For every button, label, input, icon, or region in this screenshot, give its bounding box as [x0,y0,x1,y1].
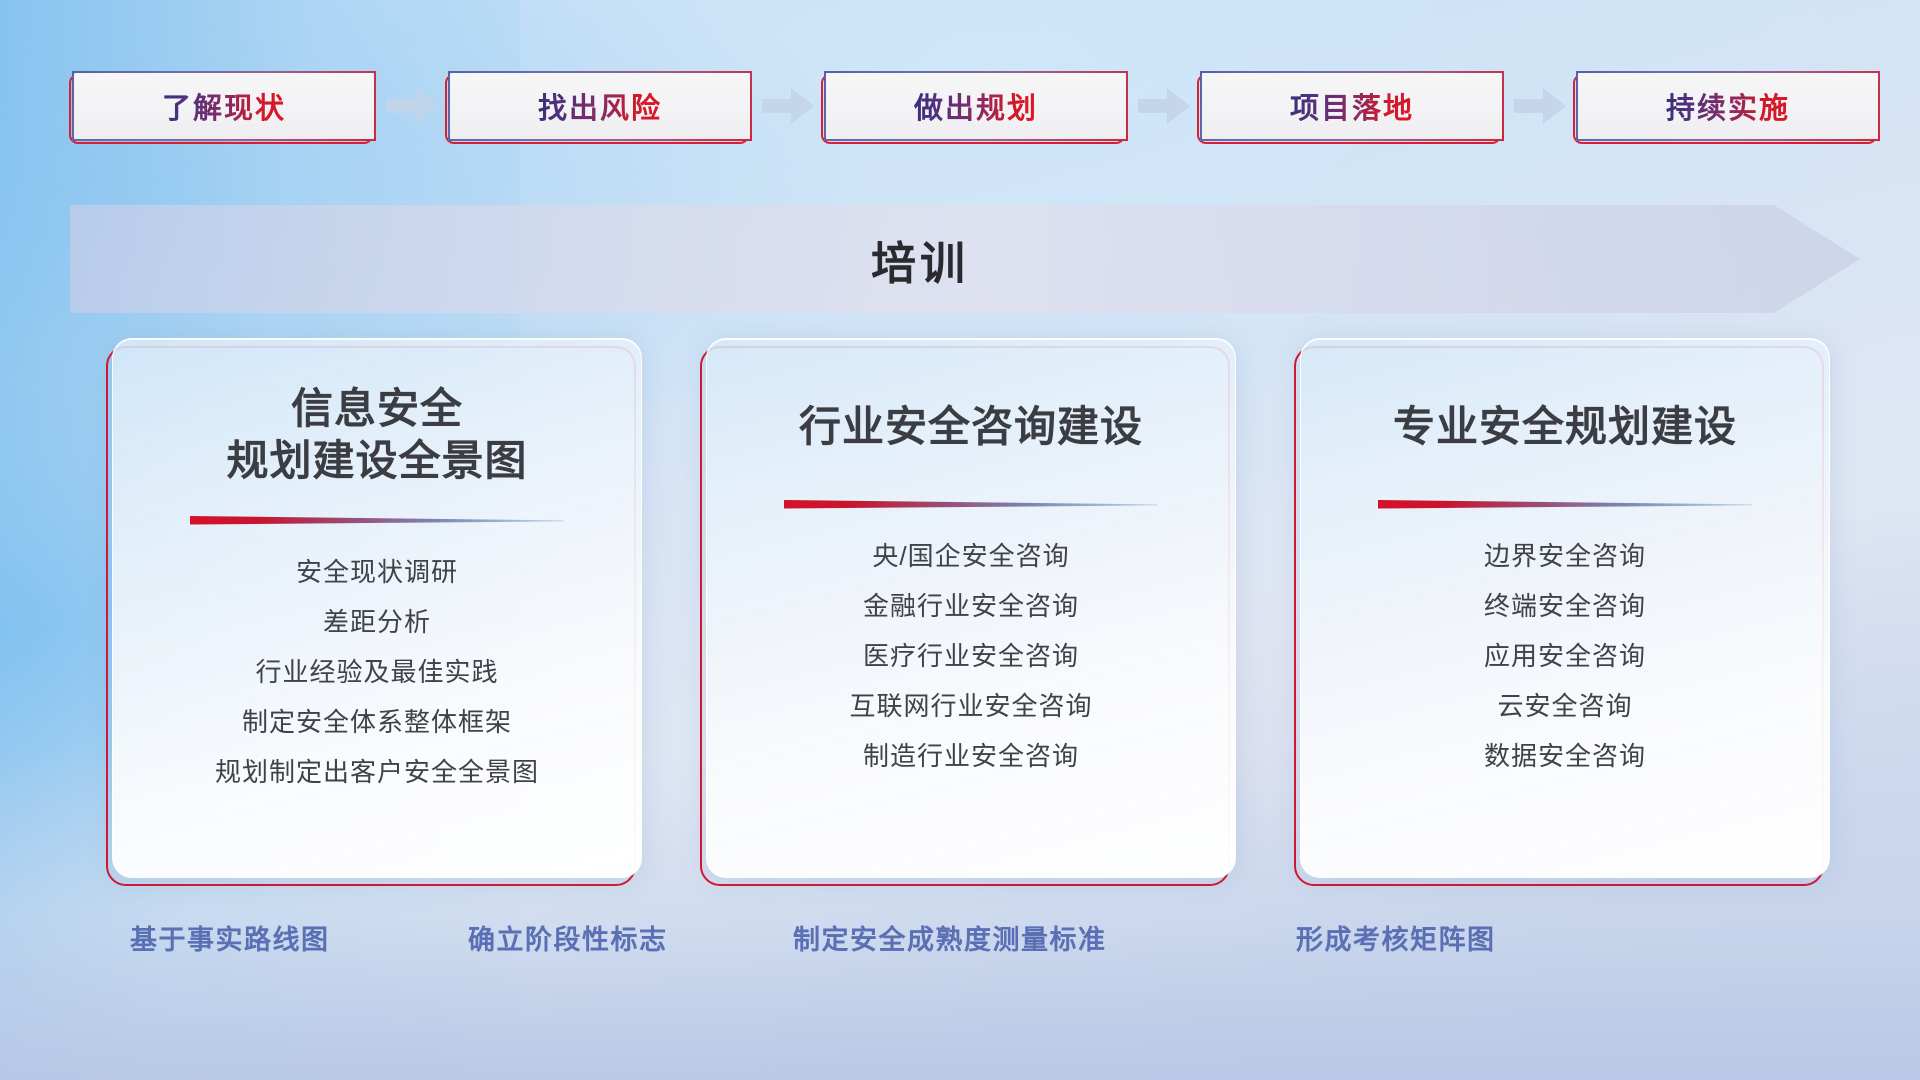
card-item-list: 安全现状调研 差距分析 行业经验及最佳实践 制定安全体系整体框架 规划制定出客户… [215,553,539,792]
card-item-list: 边界安全咨询 终端安全咨询 应用安全咨询 云安全咨询 数据安全咨询 [1484,537,1646,776]
step-chip-frame: 持续实施 [1576,71,1880,141]
list-item: 终端安全咨询 [1484,587,1646,626]
footnote-label-3: 制定安全成熟度测量标准 [793,918,1107,957]
step-chip-2[interactable]: 找出风险 [448,71,752,141]
step-chip-3[interactable]: 做出规划 [824,71,1128,141]
service-card-row: 信息安全 规划建设全景图 [0,338,1920,878]
arrow-right-icon [1504,86,1576,126]
step-label: 项目落地 [1290,85,1414,127]
step-chip-4[interactable]: 项目落地 [1200,71,1504,141]
step-label: 持续实施 [1666,85,1790,127]
training-banner: 培训 [70,205,1860,313]
step-label: 了解现状 [162,85,286,127]
footnote-label-1: 基于事实路线图 [130,918,330,957]
list-item: 云安全咨询 [1497,687,1632,726]
card-item-list: 央/国企安全咨询 金融行业安全咨询 医疗行业安全咨询 互联网行业安全咨询 制造行… [849,537,1092,776]
list-item: 医疗行业安全咨询 [863,637,1079,676]
service-card-2[interactable]: 行业安全咨询建设 [706,338,1236,878]
footnote-label-2: 确立阶段性标志 [468,918,668,957]
step-label: 找出风险 [538,85,662,127]
list-item: 边界安全咨询 [1484,537,1646,576]
card-panel: 行业安全咨询建设 [706,338,1236,878]
step-chip-5[interactable]: 持续实施 [1576,71,1880,141]
step-chip-frame: 找出风险 [448,71,752,141]
tapered-divider-icon [784,497,1158,511]
step-chip-1[interactable]: 了解现状 [72,71,376,141]
list-item: 制定安全体系整体框架 [242,703,512,742]
list-item: 互联网行业安全咨询 [849,687,1092,726]
tapered-divider-icon [190,513,564,527]
list-item: 央/国企安全咨询 [872,537,1069,576]
banner-label: 培训 [70,205,1860,313]
list-item: 数据安全咨询 [1484,737,1646,776]
arrow-right-icon [1128,86,1200,126]
list-item: 金融行业安全咨询 [863,587,1079,626]
service-card-1[interactable]: 信息安全 规划建设全景图 [112,338,642,878]
step-chip-frame: 做出规划 [824,71,1128,141]
footnote-label-4: 形成考核矩阵图 [1296,918,1496,957]
arrow-right-icon [376,86,448,126]
card-title: 信息安全 规划建设全景图 [226,383,527,487]
card-panel: 信息安全 规划建设全景图 [112,338,642,878]
card-title: 行业安全咨询建设 [799,401,1143,453]
tapered-divider-icon [1378,497,1752,511]
list-item: 安全现状调研 [296,553,458,592]
step-chip-frame: 项目落地 [1200,71,1504,141]
process-step-row: 了解现状 找出风险 做出规划 项目落地 [0,70,1920,142]
list-item: 行业经验及最佳实践 [255,653,498,692]
arrow-right-icon [752,86,824,126]
step-chip-frame: 了解现状 [72,71,376,141]
footnote-row: 基于事实路线图 确立阶段性标志 制定安全成熟度测量标准 形成考核矩阵图 [0,918,1920,968]
card-panel: 专业安全规划建设 [1300,338,1830,878]
step-label: 做出规划 [914,85,1038,127]
list-item: 应用安全咨询 [1484,637,1646,676]
list-item: 制造行业安全咨询 [863,737,1079,776]
card-title: 专业安全规划建设 [1393,401,1737,453]
list-item: 规划制定出客户安全全景图 [215,753,539,792]
service-card-3[interactable]: 专业安全规划建设 [1300,338,1830,878]
list-item: 差距分析 [323,603,431,642]
